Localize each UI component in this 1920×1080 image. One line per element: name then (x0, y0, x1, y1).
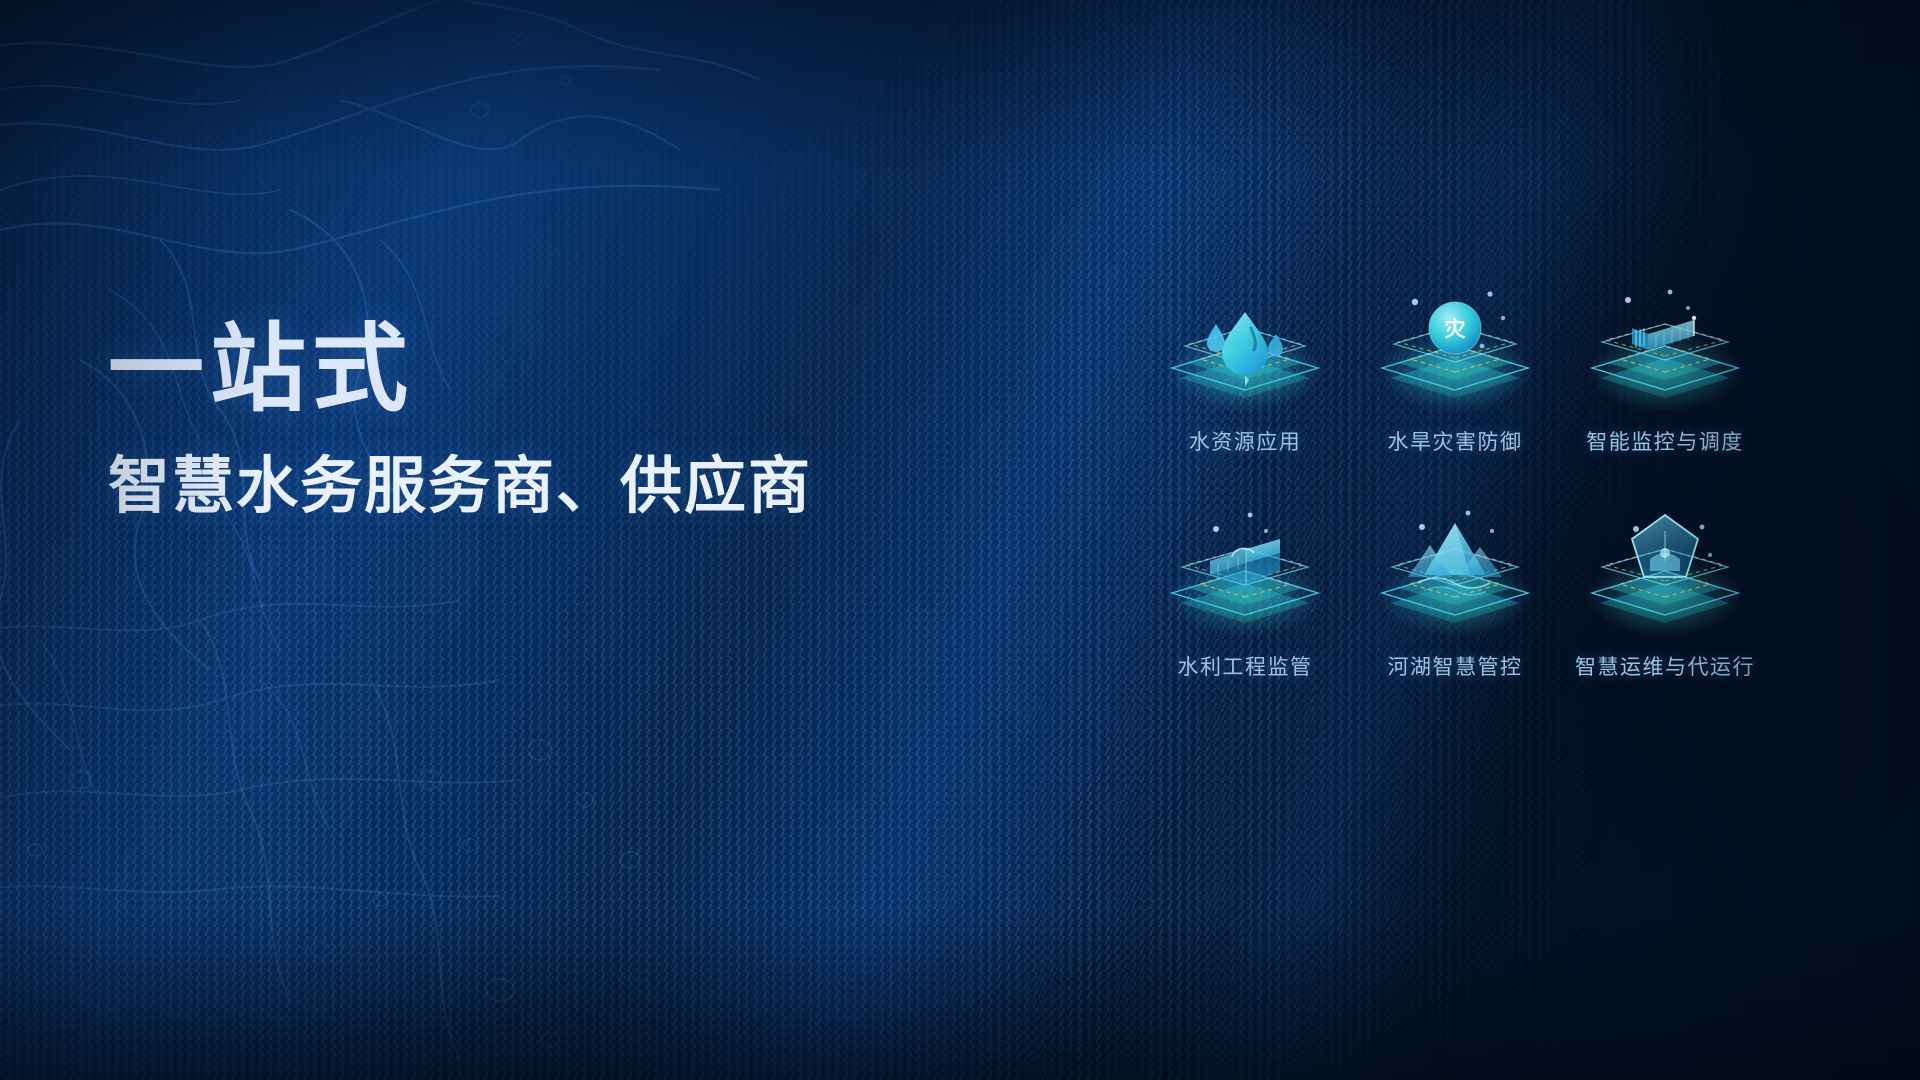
slide-canvas: 一站式 智慧水务服务商、供应商 (0, 0, 1920, 1080)
vignette-overlay (0, 0, 1920, 1080)
